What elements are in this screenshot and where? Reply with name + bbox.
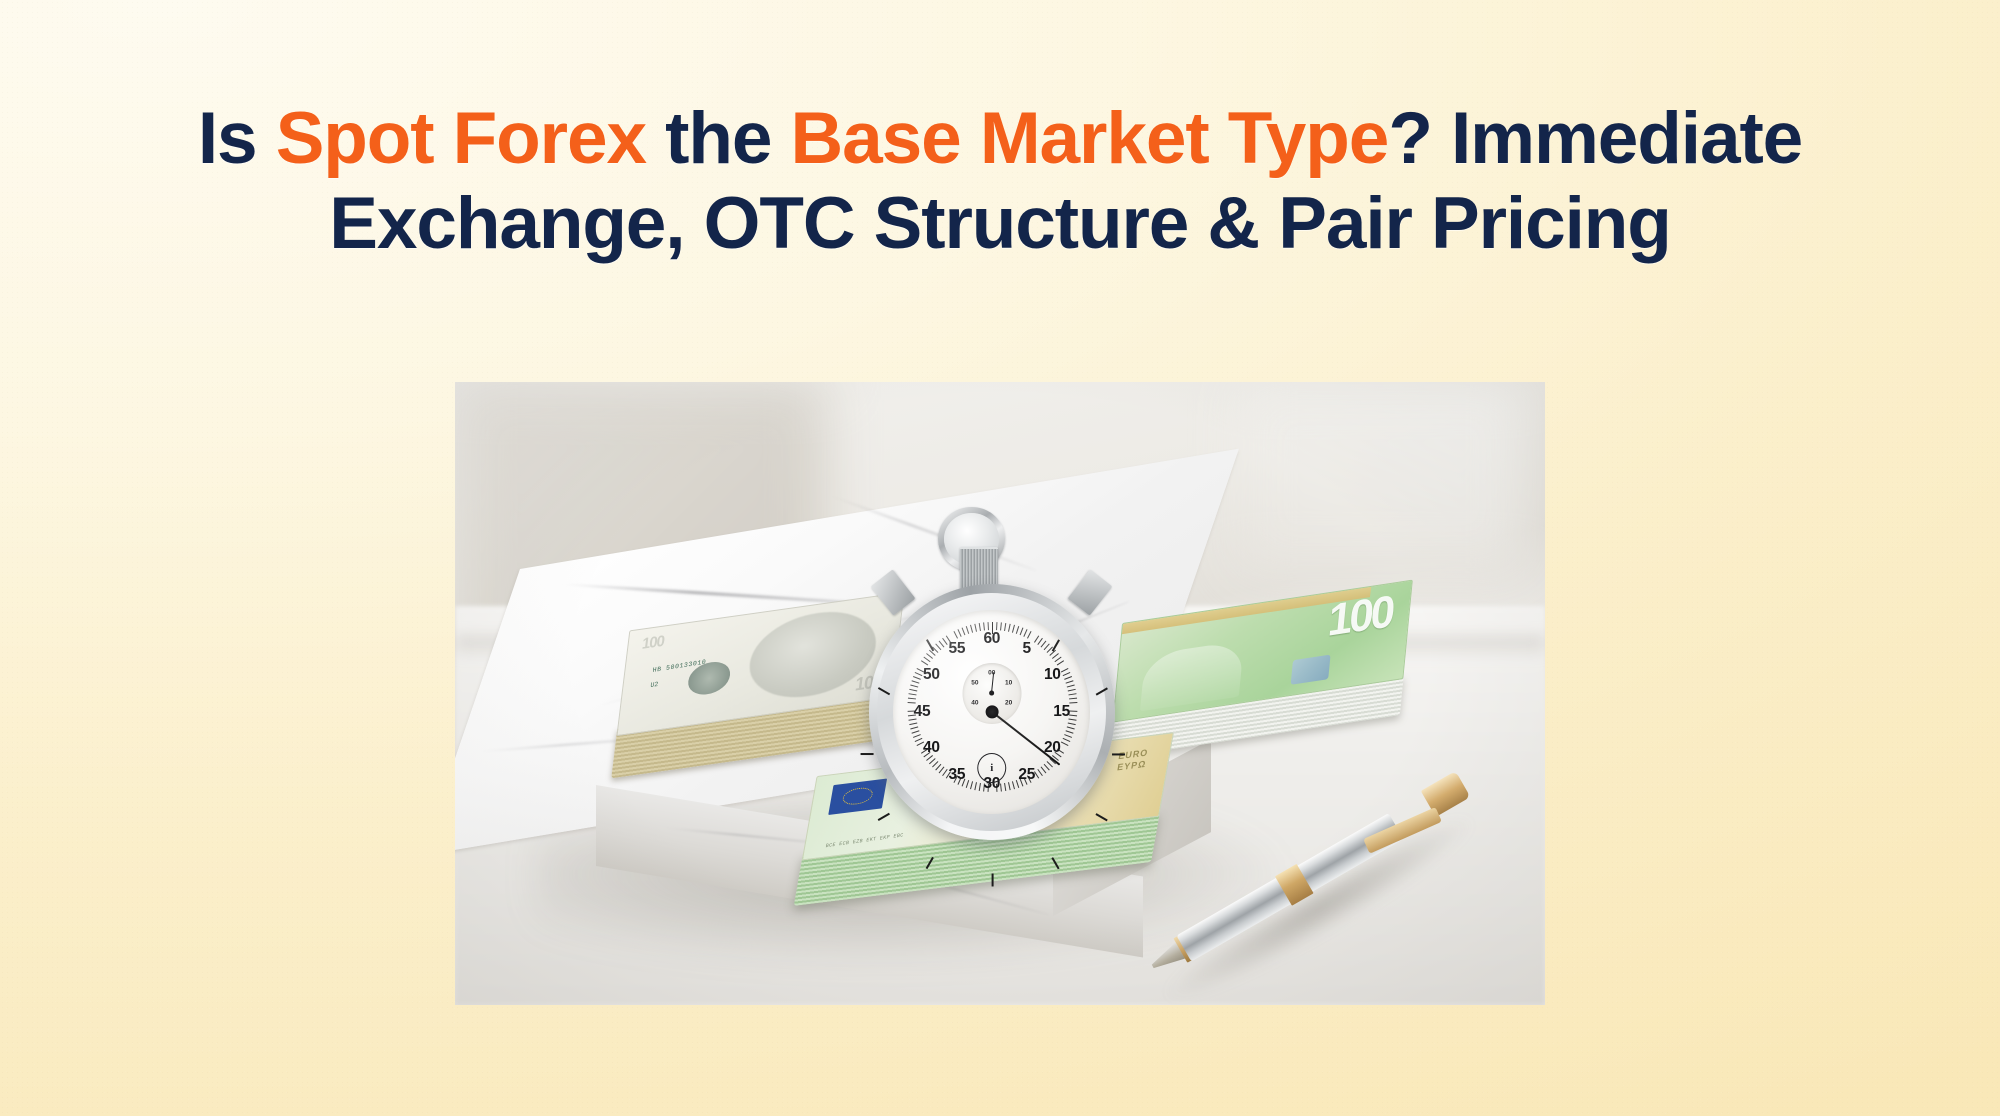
stopwatch-dial-number: 25 — [1018, 766, 1035, 784]
stopwatch-tick — [1027, 631, 1032, 639]
stopwatch-dial-number: 10 — [1044, 666, 1061, 684]
stopwatch-tick — [1066, 726, 1074, 729]
stopwatch-tick — [1000, 622, 1002, 630]
title-segment-2: the — [646, 98, 791, 179]
stopwatch-subdial-number: 20 — [1005, 700, 1012, 707]
stopwatch-tick — [914, 672, 922, 676]
stopwatch-dial-number: 40 — [923, 739, 940, 757]
stopwatch-tick — [1068, 693, 1076, 695]
stopwatch-tick — [1062, 738, 1070, 742]
page-title: Is Spot Forex the Base Market Type? Imme… — [60, 96, 1940, 267]
stopwatch-tick — [913, 676, 921, 680]
title-accent-spot-forex: Spot Forex — [276, 98, 646, 179]
stopwatch-tick — [910, 726, 918, 729]
stopwatch-tick — [1069, 697, 1077, 699]
stopwatch-tick — [921, 660, 928, 665]
stopwatch-tick — [1065, 730, 1073, 733]
stopwatch-tick — [1065, 680, 1073, 683]
stopwatch-tick — [909, 689, 917, 692]
stopwatch-dial-number: 55 — [949, 640, 966, 658]
euro-100-hologram-patch — [1291, 654, 1331, 685]
stopwatch-right-pusher — [1068, 569, 1113, 616]
stopwatch-tick — [913, 734, 921, 738]
stopwatch-subdial-number: 10 — [1005, 680, 1012, 687]
stopwatch-tick — [1096, 813, 1108, 821]
stopwatch-tick — [1008, 782, 1011, 790]
stopwatch-tick — [908, 697, 916, 699]
stopwatch-center-mark: i — [977, 753, 1007, 784]
stopwatch-tick — [1112, 753, 1125, 755]
stopwatch: 51015202530354045505560 001020304050 i — [864, 507, 1120, 843]
stopwatch-tick — [979, 783, 981, 791]
stopwatch-tick — [1012, 781, 1015, 789]
stopwatch-tick — [910, 684, 918, 687]
stopwatch-tick — [970, 781, 973, 789]
stopwatch-tick — [1057, 660, 1064, 665]
stopwatch-tick — [1096, 687, 1108, 695]
stopwatch-tick — [909, 722, 917, 725]
stopwatch-tick — [987, 622, 988, 630]
background-window-right — [1240, 382, 1523, 569]
stopwatch-tick — [1061, 741, 1069, 746]
stopwatch-tick — [1019, 627, 1023, 635]
title-accent-base-market-type: Base Market Type — [791, 98, 1389, 179]
title-segment-3: ? Immediate — [1388, 98, 1802, 179]
stopwatch-subdial-number: 40 — [971, 700, 978, 707]
stopwatch-tick — [979, 623, 981, 631]
stopwatch-tick — [1066, 684, 1074, 687]
usd-denomination-top-left: 100 — [641, 632, 665, 653]
stopwatch-subdial-number: 50 — [971, 680, 978, 687]
stopwatch-tick — [974, 782, 977, 790]
stopwatch-bezel: 51015202530354045505560 001020304050 i — [877, 593, 1106, 831]
euro-word-mark: EUROΕΥΡΩ — [1115, 747, 1149, 772]
stopwatch-tick — [1016, 626, 1019, 634]
stopwatch-tick — [996, 622, 997, 630]
stopwatch-tick — [1023, 629, 1027, 637]
stopwatch-subdial-pin — [989, 691, 994, 696]
stopwatch-tick — [953, 631, 958, 639]
stopwatch-tick — [983, 622, 985, 630]
stopwatch-tick — [914, 738, 922, 742]
stopwatch-tick — [1061, 668, 1069, 673]
stopwatch-tick — [957, 629, 961, 637]
stopwatch-tick — [966, 780, 969, 788]
stopwatch-tick — [878, 687, 890, 695]
usd-serial-suffix: U2 — [650, 680, 659, 688]
stopwatch-tick — [1008, 624, 1011, 632]
stopwatch-tick — [1067, 689, 1075, 692]
stopwatch-tick — [1062, 672, 1070, 676]
stopwatch-dial-number: 45 — [914, 703, 931, 721]
euro-100-archway-motif — [1141, 641, 1245, 712]
stopwatch-tick — [1004, 623, 1006, 631]
stopwatch-tick — [1064, 676, 1072, 680]
stopwatch-dial-number: 5 — [1023, 640, 1031, 658]
stopwatch-tick — [860, 753, 873, 755]
stopwatch-tick — [911, 680, 919, 683]
stopwatch-tick — [1067, 722, 1075, 725]
stopwatch-tick — [970, 625, 973, 633]
hero-image: HB 500133010 U2 100 100 100 EUROΕΥΡΩ 50 … — [455, 382, 1545, 1005]
stopwatch-tick — [992, 874, 994, 887]
stopwatch-dial: 51015202530354045505560 001020304050 i — [893, 610, 1090, 815]
stopwatch-dial-number: 60 — [983, 630, 1000, 648]
stopwatch-dial-number: 35 — [949, 766, 966, 784]
stopwatch-tick — [1004, 783, 1006, 791]
stopwatch-dial-number: 50 — [923, 666, 940, 684]
stopwatch-tick — [1012, 625, 1015, 633]
title-segment-1: Is — [198, 98, 276, 179]
stopwatch-tick — [966, 626, 969, 634]
stopwatch-left-pusher — [871, 569, 916, 616]
stopwatch-case: 51015202530354045505560 001020304050 i — [869, 584, 1115, 840]
stopwatch-tick — [974, 624, 977, 632]
stopwatch-tick — [908, 693, 916, 695]
page-title-line-1: Is Spot Forex the Base Market Type? Imme… — [60, 96, 1940, 181]
stopwatch-dial-number: 15 — [1053, 703, 1070, 721]
stopwatch-tick — [878, 813, 890, 821]
page-title-line-2: Exchange, OTC Structure & Pair Pricing — [60, 181, 1940, 266]
stopwatch-center-pin — [985, 705, 998, 718]
stopwatch-tick — [911, 730, 919, 733]
stopwatch-tick — [961, 627, 965, 635]
euro-100-denomination: 100 — [1327, 589, 1395, 644]
stopwatch-tick — [1064, 734, 1072, 738]
